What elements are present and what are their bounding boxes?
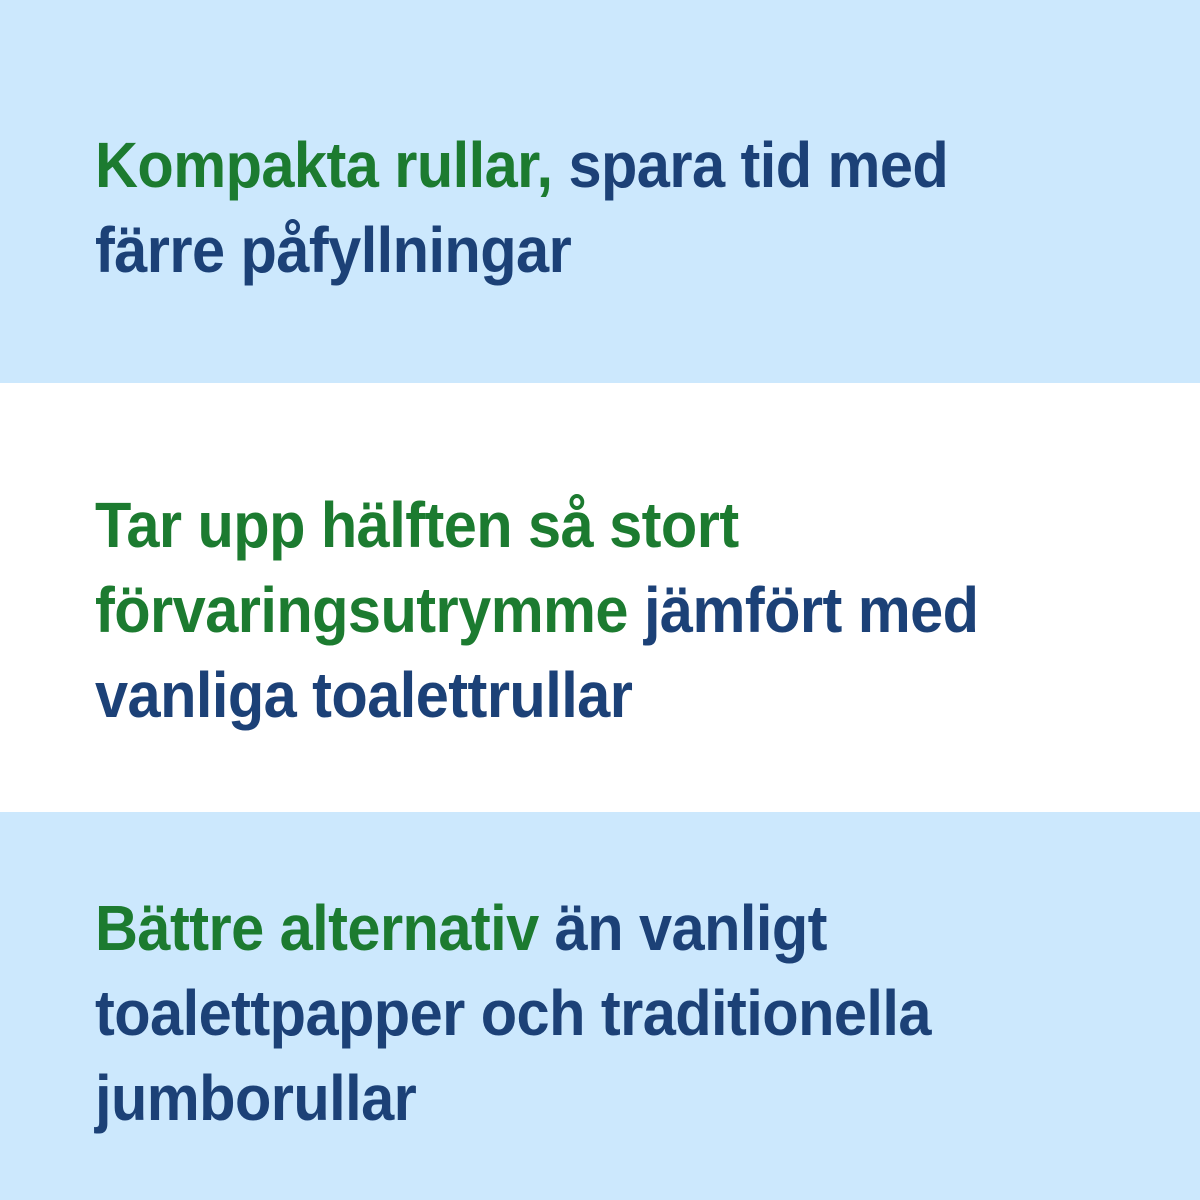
feature-headline-3-green-segment: Bättre alternativ [95,892,539,964]
feature-headline-3: Bättre alternativ än vanligt toalettpapp… [95,886,1072,1141]
promo-feature-panel: Kompakta rullar, spara tid med färre påf… [0,0,1200,1200]
feature-headline-1-green-segment: Kompakta rullar, [95,129,552,201]
feature-headline-1: Kompakta rullar, spara tid med färre påf… [95,123,1062,293]
feature-headline-2: Tar upp hälften så stort förvaringsutrym… [95,483,988,738]
